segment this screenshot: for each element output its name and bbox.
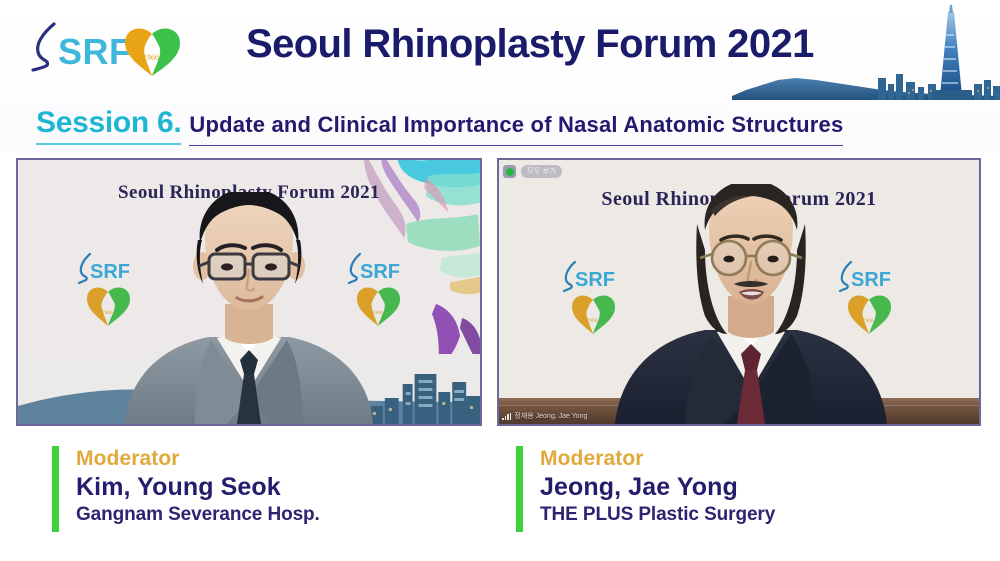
session-number: Session 6.: [36, 106, 181, 145]
video-panel-right[interactable]: SRF 1966 SRF 1966 Seoul Rhinoplasty Foru…: [497, 158, 981, 426]
srf-logo: SRF 1966: [24, 16, 220, 82]
signal-strength-icon: [502, 413, 511, 420]
moderator-caption-right: Moderator Jeong, Jae Yong THE PLUS Plast…: [516, 446, 775, 538]
video-panel-left[interactable]: SRF 1966 SRF 1966 Seoul Rhinoplasty Foru…: [16, 158, 482, 426]
participant-name-label: 정재용 Jeong, Jae Yong: [514, 411, 587, 421]
moderator-caption-left: Moderator Kim, Young Seok Gangnam Severa…: [52, 446, 320, 538]
header-banner: SRF 1966 Seoul Rhinoplasty Forum 2021 Se…: [0, 0, 1000, 152]
svg-text:SRF: SRF: [58, 31, 132, 72]
svg-text:1966: 1966: [587, 318, 598, 324]
virtual-background-left: SRF 1966 SRF 1966 Seoul Rhinoplasty Foru…: [18, 160, 480, 424]
caption-affiliation: Gangnam Severance Hosp.: [76, 504, 320, 527]
caption-name: Jeong, Jae Yong: [540, 472, 775, 503]
caption-name: Kim, Young Seok: [76, 472, 320, 503]
participant-video-right: [601, 184, 901, 424]
recording-status-icon: [503, 165, 516, 178]
participant-video-left: [99, 192, 399, 424]
view-mode-badge[interactable]: 모두 보기: [521, 165, 562, 178]
caption-role: Moderator: [540, 447, 775, 471]
page-title: Seoul Rhinoplasty Forum 2021: [246, 22, 814, 67]
participant-name-tag: 정재용 Jeong, Jae Yong: [502, 411, 587, 421]
caption-accent-bar: [516, 446, 523, 532]
virtual-background-right: SRF 1966 SRF 1966 Seoul Rhinoplasty Foru…: [499, 160, 979, 424]
caption-accent-bar: [52, 446, 59, 532]
caption-affiliation: THE PLUS Plastic Surgery: [540, 504, 775, 527]
caption-role: Moderator: [76, 447, 320, 471]
broadcast-stage: SRF 1966 Seoul Rhinoplasty Forum 2021 Se…: [0, 0, 1000, 561]
session-topic: Update and Clinical Importance of Nasal …: [189, 112, 843, 146]
svg-text:1966: 1966: [143, 53, 159, 62]
session-heading: Session 6. Update and Clinical Importanc…: [36, 106, 843, 146]
